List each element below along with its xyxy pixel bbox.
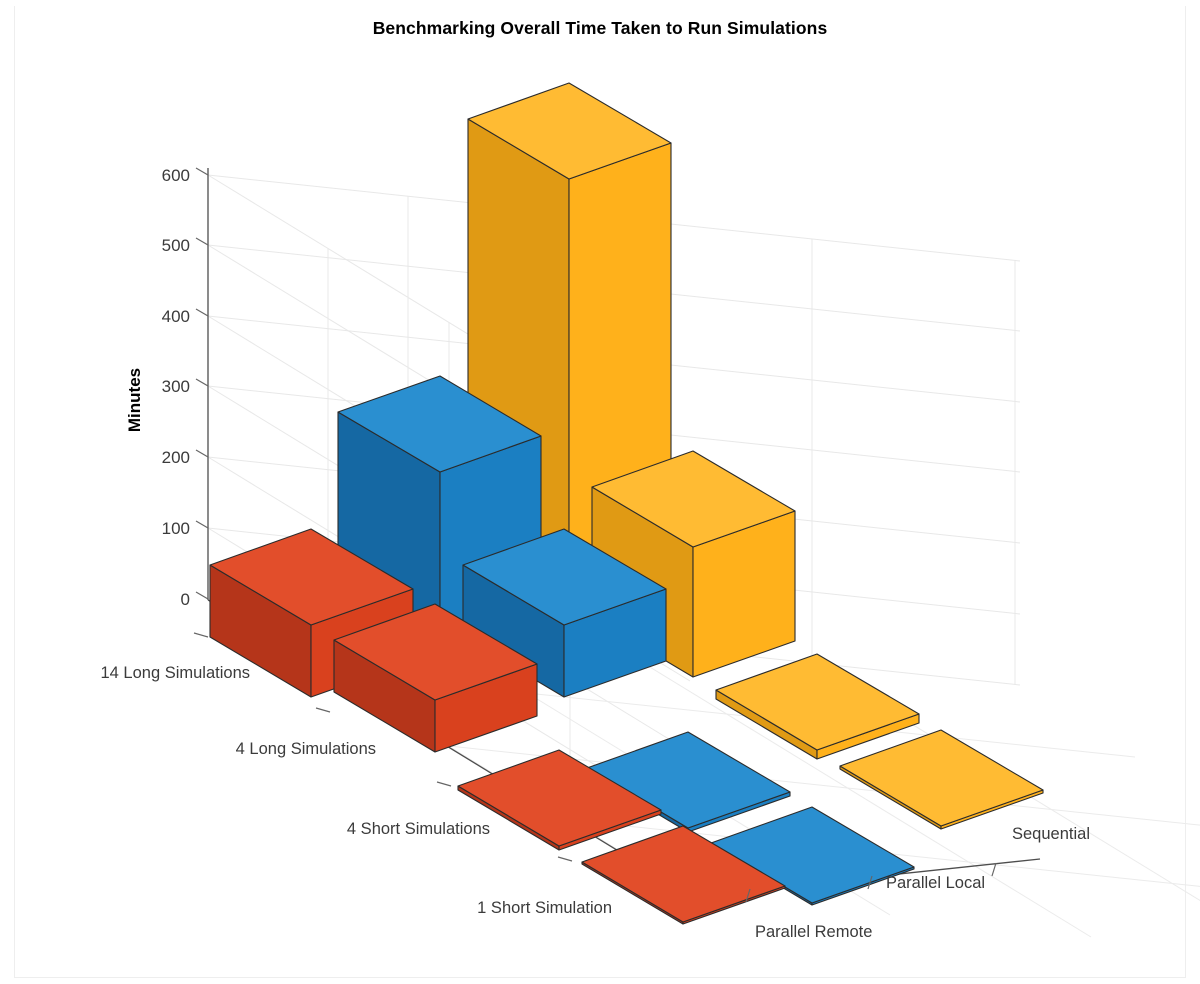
- depth-label-14-long: 14 Long Simulations: [100, 664, 250, 682]
- z-tick-label-200: 200: [162, 448, 190, 467]
- bar3-plot: 600 500 400 300 200 100 0 Minutes: [0, 0, 1200, 984]
- z-tick-label-100: 100: [162, 519, 190, 538]
- bar-4-short-sequential[interactable]: [716, 654, 919, 759]
- z-tick-label-600: 600: [162, 166, 190, 185]
- x-label-parallel-local: Parallel Local: [886, 874, 985, 892]
- z-axis-tick-labels: 600 500 400 300 200 100 0: [162, 166, 190, 609]
- depth-label-1-short: 1 Short Simulation: [477, 899, 612, 917]
- z-tick-label-400: 400: [162, 307, 190, 326]
- z-tick-label-500: 500: [162, 236, 190, 255]
- z-axis-title: Minutes: [125, 368, 144, 432]
- depth-label-4-short: 4 Short Simulations: [347, 820, 490, 838]
- x-label-sequential: Sequential: [1012, 825, 1090, 843]
- z-axis-ticks: [196, 168, 208, 599]
- z-tick-label-0: 0: [181, 590, 190, 609]
- figure-canvas: Benchmarking Overall Time Taken to Run S…: [0, 0, 1200, 984]
- z-tick-label-300: 300: [162, 377, 190, 396]
- x-label-parallel-remote: Parallel Remote: [755, 923, 872, 941]
- bar-1-short-sequential[interactable]: [840, 730, 1043, 829]
- depth-label-4-long: 4 Long Simulations: [236, 740, 376, 758]
